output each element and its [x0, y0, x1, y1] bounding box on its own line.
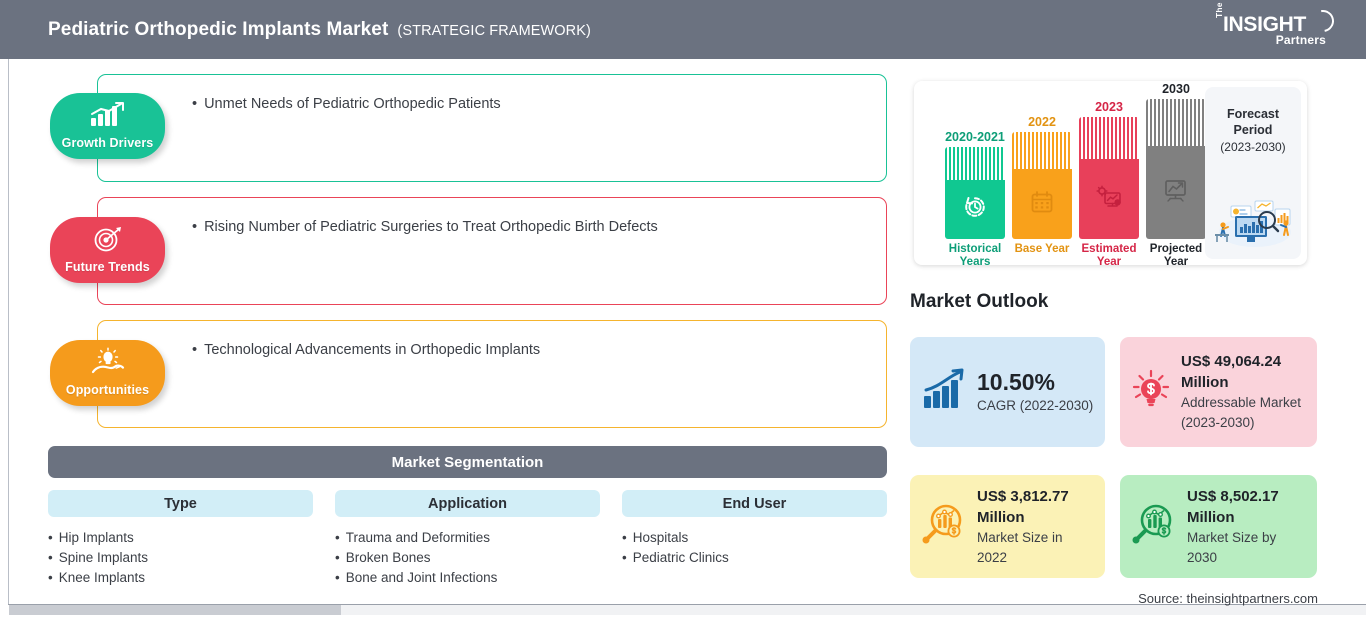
page-subtitle: (STRATEGIC FRAMEWORK)	[397, 23, 591, 39]
lightbulb-dollar-icon	[1130, 368, 1172, 417]
timeline-panel: 2020-2021 Historical Years	[914, 81, 1307, 265]
segmentation-column-type: Type •Hip Implants •Spine Implants •Knee…	[48, 490, 313, 588]
growth-bar-chart-arrow-icon	[88, 102, 128, 133]
content-left-border	[8, 59, 9, 604]
timeline-bar-fill-estimated	[1079, 117, 1139, 239]
bullet-dot: •	[335, 530, 340, 545]
segmentation-header-type: Type	[48, 490, 313, 517]
timeline-year-estimated: 2023	[1079, 100, 1139, 114]
magnifier-bar-chart-icon	[1130, 502, 1178, 551]
timeline-caption-historical: Historical Years	[939, 243, 1011, 269]
logo-arc-icon	[1308, 6, 1339, 37]
market-segmentation-title: Market Segmentation	[392, 454, 544, 471]
segmentation-list-type: •Hip Implants •Spine Implants •Knee Impl…	[48, 528, 313, 588]
segmentation-header-application: Application	[335, 490, 600, 517]
list-item: •Broken Bones	[335, 548, 600, 568]
timeline-year-base: 2022	[1012, 115, 1072, 129]
segmentation-list-application: •Trauma and Deformities •Broken Bones •B…	[335, 528, 600, 588]
stat-card-market-size-2030[interactable]: US$ 8,502.17 Million Market Size by 2030	[1120, 475, 1317, 578]
stat-card-2022-amount: US$ 3,812.77 Million	[977, 486, 1095, 528]
driver-bullet-trends: •Rising Number of Pediatric Surgeries to…	[192, 219, 658, 235]
segmentation-column-end-user: End User •Hospitals •Pediatric Clinics	[622, 490, 887, 568]
bullet-dot: •	[622, 550, 627, 565]
infographic-page: Pediatric Orthopedic Implants Market(STR…	[0, 0, 1366, 626]
presentation-chart-icon	[1162, 177, 1190, 208]
timeline-stripe-top	[1146, 99, 1206, 146]
driver-box-growth-drivers: •Unmet Needs of Pediatric Orthopedic Pat…	[97, 74, 887, 182]
timeline-bar-fill-historical	[945, 147, 1005, 239]
list-item-label: Hip Implants	[59, 530, 134, 545]
stat-card-2022-label: Market Size in 2022	[977, 528, 1095, 568]
horizontal-scrollbar-thumb[interactable]	[9, 605, 341, 615]
insight-partners-logo: The INSIGHT Partners	[1212, 9, 1334, 51]
timeline-bar-fill-projected	[1146, 99, 1206, 239]
timeline-year-projected: 2030	[1146, 82, 1206, 96]
timeline-caption-estimated: Estimated Year	[1073, 243, 1145, 269]
page-title: Pediatric Orthopedic Implants Market(STR…	[48, 19, 591, 41]
timeline-caption-projected: Projected Year	[1140, 243, 1212, 269]
timeline-solid-body	[1079, 159, 1139, 239]
market-outlook-title: Market Outlook	[910, 291, 1048, 313]
timeline-year-historical: 2020-2021	[945, 130, 1005, 144]
stat-card-cagr-text: 10.50% CAGR (2022-2030)	[977, 369, 1095, 416]
timeline-bar-historical: 2020-2021 Historical Years	[945, 81, 1005, 265]
stat-card-cagr[interactable]: 10.50% CAGR (2022-2030)	[910, 337, 1105, 447]
list-item-label: Bone and Joint Infections	[346, 570, 498, 585]
timeline-solid-body	[1146, 146, 1206, 239]
page-header: Pediatric Orthopedic Implants Market(STR…	[0, 0, 1366, 59]
bullet-dot: •	[192, 342, 197, 358]
timeline-bar-base: 2022	[1012, 81, 1072, 265]
stat-card-addressable-market[interactable]: US$ 49,064.24 Million Addressable Market…	[1120, 337, 1317, 447]
list-item: •Knee Implants	[48, 568, 313, 588]
list-item-label: Broken Bones	[346, 550, 431, 565]
list-item: •Hospitals	[622, 528, 887, 548]
list-item-label: Trauma and Deformities	[346, 530, 490, 545]
page-title-text: Pediatric Orthopedic Implants Market	[48, 19, 388, 40]
bullet-dot: •	[48, 530, 53, 545]
driver-box-opportunities: •Technological Advancements in Orthopedi…	[97, 320, 887, 428]
list-item: •Spine Implants	[48, 548, 313, 568]
timeline-solid-body	[1012, 169, 1072, 239]
bar-chart-growth-icon	[920, 368, 968, 417]
forecast-title-line1: Forecast	[1205, 106, 1301, 122]
stat-card-2022-text: US$ 3,812.77 Million Market Size in 2022	[977, 486, 1095, 568]
timeline-bar-projected: 2030 Projected Year	[1146, 81, 1206, 265]
timeline-bar-fill-base	[1012, 132, 1072, 239]
segmentation-header-end-user: End User	[622, 490, 887, 517]
magnifier-bar-chart-icon	[920, 502, 968, 551]
driver-bullet-text: Rising Number of Pediatric Surgeries to …	[204, 219, 658, 235]
segmentation-list-end-user: •Hospitals •Pediatric Clinics	[622, 528, 887, 568]
logo-partners-text: Partners	[1276, 33, 1326, 47]
driver-box-future-trends: •Rising Number of Pediatric Surgeries to…	[97, 197, 887, 305]
list-item: •Trauma and Deformities	[335, 528, 600, 548]
stat-card-addressable-amount: US$ 49,064.24 Million	[1181, 351, 1307, 393]
stat-card-cagr-value: 10.50%	[977, 369, 1095, 396]
stat-card-2030-amount: US$ 8,502.17 Million	[1187, 486, 1307, 528]
timeline-solid-body	[945, 180, 1005, 239]
market-segmentation-title-bar: Market Segmentation	[48, 446, 887, 478]
bullet-dot: •	[335, 550, 340, 565]
calendar-icon	[1029, 189, 1055, 220]
clock-history-icon	[962, 194, 988, 225]
list-item: •Pediatric Clinics	[622, 548, 887, 568]
list-item: •Hip Implants	[48, 528, 313, 548]
segmentation-column-application: Application •Trauma and Deformities •Bro…	[335, 490, 600, 588]
badge-future-trends[interactable]: Future Trends	[50, 217, 165, 283]
driver-bullet-growth: •Unmet Needs of Pediatric Orthopedic Pat…	[192, 96, 501, 112]
business-analytics-illustration	[1209, 192, 1297, 253]
forecast-period-card: Forecast Period (2023-2030)	[1205, 87, 1301, 259]
timeline-stripe-top	[1079, 117, 1139, 159]
forecast-range: (2023-2030)	[1205, 140, 1301, 154]
driver-bullet-opportunities: •Technological Advancements in Orthopedi…	[192, 342, 540, 358]
bullet-dot: •	[48, 570, 53, 585]
horizontal-scrollbar-track[interactable]	[341, 605, 1366, 615]
driver-bullet-text: Unmet Needs of Pediatric Orthopedic Pati…	[204, 96, 501, 112]
badge-label-growth-drivers: Growth Drivers	[62, 136, 154, 150]
badge-growth-drivers[interactable]: Growth Drivers	[50, 93, 165, 159]
stat-card-addressable-label: Addressable Market (2023-2030)	[1181, 393, 1307, 433]
stat-card-market-size-2022[interactable]: US$ 3,812.77 Million Market Size in 2022	[910, 475, 1105, 578]
target-dartboard-icon	[91, 226, 125, 257]
timeline-stripe-top	[945, 147, 1005, 180]
stat-card-addressable-text: US$ 49,064.24 Million Addressable Market…	[1181, 351, 1307, 433]
stat-card-2030-label: Market Size by 2030	[1187, 528, 1307, 568]
timeline-bar-estimated: 2023	[1079, 81, 1139, 265]
list-item-label: Knee Implants	[59, 570, 145, 585]
badge-label-opportunities: Opportunities	[66, 383, 149, 397]
list-item-label: Pediatric Clinics	[633, 550, 729, 565]
timeline-caption-base: Base Year	[1006, 243, 1078, 256]
timeline-stripe-top	[1012, 132, 1072, 169]
stat-card-2030-text: US$ 8,502.17 Million Market Size by 2030	[1187, 486, 1307, 568]
stat-card-cagr-label: CAGR (2022-2030)	[977, 396, 1095, 416]
badge-opportunities[interactable]: Opportunities	[50, 340, 165, 406]
analytics-gear-icon	[1095, 184, 1123, 215]
bullet-dot: •	[622, 530, 627, 545]
forecast-title-line2: Period	[1205, 122, 1301, 138]
driver-bullet-text: Technological Advancements in Orthopedic…	[204, 342, 540, 358]
badge-label-future-trends: Future Trends	[65, 260, 150, 274]
bullet-dot: •	[192, 219, 197, 235]
source-note: Source: theinsightpartners.com	[1138, 591, 1318, 606]
hand-lightbulb-icon	[88, 347, 128, 380]
bullet-dot: •	[48, 550, 53, 565]
list-item-label: Hospitals	[633, 530, 689, 545]
list-item-label: Spine Implants	[59, 550, 148, 565]
bullet-dot: •	[192, 96, 197, 112]
list-item: •Bone and Joint Infections	[335, 568, 600, 588]
bullet-dot: •	[335, 570, 340, 585]
